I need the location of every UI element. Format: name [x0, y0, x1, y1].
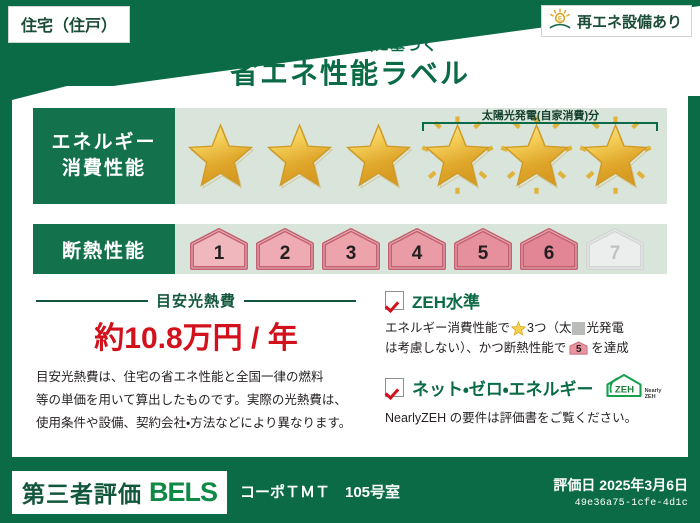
label-title: 建築物省エネ法に基づく 省エネ性能ラベル — [0, 38, 700, 91]
zeh-standard-title: ZEH水準 — [412, 288, 480, 313]
energy-row-label-line2: 消費性能 — [62, 156, 146, 182]
redacted-char — [572, 322, 585, 335]
energy-star-1 — [181, 113, 260, 199]
bels-wordmark: BELS — [149, 477, 217, 508]
net-zero-criterion: ネット・ゼロ・エネルギー ZEH Nearly ZEH — [385, 373, 667, 428]
zeh-desc-line2: は考慮しない）、かつ断熱性能で 5 を達成 — [385, 338, 667, 358]
zeh-desc-line2-b: を達成 — [591, 338, 629, 358]
dwelling-type-chip: 住宅（住戸） — [8, 6, 130, 43]
zeh-logo-subtext: Nearly ZEH — [645, 389, 662, 403]
evaluation-id: 49e36a75-1cfe-4d1c — [553, 498, 688, 509]
zeh-desc-line1-b: 光発電 — [586, 318, 624, 338]
solar-portion-bracket — [422, 122, 658, 131]
insulation-house-number: 1 — [188, 227, 250, 271]
insulation-house-2: 2 — [254, 227, 316, 271]
zeh-standard-header: ZEH水準 — [385, 288, 667, 313]
energy-performance-label: 住宅（住戸） E 再エネ設備あり 建築物省エネ法に基づく 省エネ性能ラベル — [0, 0, 700, 523]
criteria-block: ZEH水準 エネルギー消費性能で 3つ（太 光発電 は考慮しない）、かつ断熱性能… — [385, 288, 667, 428]
cost-heading-rule-left — [36, 300, 148, 302]
zeh-desc-star-count: 3つ（太 — [527, 318, 571, 338]
svg-text:E: E — [558, 16, 562, 22]
zeh-standard-description: エネルギー消費性能で 3つ（太 光発電 は考慮しない）、かつ断熱性能で — [385, 318, 667, 359]
zeh-desc-line1: エネルギー消費性能で 3つ（太 光発電 — [385, 318, 667, 338]
net-zero-checkbox[interactable] — [385, 378, 404, 397]
zeh-standard-criterion: ZEH水準 エネルギー消費性能で 3つ（太 光発電 は考慮しない）、かつ断熱性能… — [385, 288, 667, 359]
net-zero-note-text: NearlyZEH の要件は評価書をご覧ください。 — [385, 408, 667, 428]
energy-performance-row: エネルギー 消費性能 太陽光発電(自家消費)分 — [33, 108, 667, 204]
energy-row-body: 太陽光発電(自家消費)分 — [175, 108, 667, 204]
insulation-house-4: 4 — [386, 227, 448, 271]
insulation-house-number: 7 — [584, 227, 646, 271]
insulation-row-label-text: 断熱性能 — [62, 236, 146, 263]
zeh-house-icon: ZEH — [605, 373, 643, 403]
insulation-house-6: 6 — [518, 227, 580, 271]
insulation-house-7: 7 — [584, 227, 646, 271]
sun-renewable-icon: E — [548, 8, 572, 35]
insulation-house-number: 5 — [452, 227, 514, 271]
zeh-standard-checkbox[interactable] — [385, 291, 404, 310]
bels-badge: 第三者評価 BELS — [12, 471, 227, 514]
insulation-house-number: 6 — [518, 227, 580, 271]
cost-heading-rule-right — [244, 300, 356, 302]
net-zero-note: NearlyZEH の要件は評価書をご覧ください。 — [385, 408, 667, 428]
star-icon — [181, 113, 260, 199]
zeh-desc-line1-a: エネルギー消費性能で — [385, 318, 510, 338]
svg-text:ZEH: ZEH — [614, 384, 633, 395]
cost-note: 目安光熱費は、住宅の省エネ性能と全国一律の燃料 等の単価を用いて算出したものです… — [36, 366, 366, 435]
unit-name: コーポＴＭＴ 105号室 — [240, 481, 400, 502]
insulation-house-3: 3 — [320, 227, 382, 271]
insulation-performance-row: 断熱性能 1 2 3 4 5 6 — [33, 224, 667, 274]
inline-house-grade-number: 5 — [569, 340, 588, 356]
insulation-grade-scale: 1 2 3 4 5 6 7 — [175, 224, 667, 274]
cost-heading: 目安光熱費 — [36, 290, 356, 311]
energy-row-label: エネルギー 消費性能 — [33, 108, 175, 204]
evaluation-date: 評価日 2025年3月6日 — [553, 475, 688, 495]
energy-star-3 — [339, 113, 418, 199]
insulation-row-body: 1 2 3 4 5 6 7 — [175, 224, 667, 274]
solar-portion-caption: 太陽光発電(自家消費)分 — [418, 107, 663, 123]
cost-note-line2: 等の単価を用いて算出したものです。実際の光熱費は、 — [36, 389, 366, 412]
renewable-badge-label: 再エネ設備あり — [577, 11, 682, 32]
insulation-house-number: 4 — [386, 227, 448, 271]
insulation-house-1: 1 — [188, 227, 250, 271]
inline-house-grade-icon: 5 — [569, 340, 588, 356]
zeh-logo-sub-line2: ZEH — [645, 395, 662, 401]
insulation-house-5: 5 — [452, 227, 514, 271]
zeh-desc-line2-a: は考慮しない）、かつ断熱性能で — [385, 338, 566, 358]
footer-bar: 第三者評価 BELS コーポＴＭＴ 105号室 評価日 2025年3月6日 49… — [0, 463, 700, 523]
zeh-logo: ZEH Nearly ZEH — [605, 373, 662, 403]
star-icon — [260, 113, 339, 199]
insulation-house-number: 2 — [254, 227, 316, 271]
cost-note-line1: 目安光熱費は、住宅の省エネ性能と全国一律の燃料 — [36, 366, 366, 389]
net-zero-title: ネット・ゼロ・エネルギー — [412, 375, 594, 400]
dwelling-type-label: 住宅（住戸） — [21, 18, 117, 35]
cost-note-line3: 使用条件や設備、契約会社・方法などにより異なります。 — [36, 412, 366, 435]
title-main: 省エネ性能ラベル — [0, 56, 700, 91]
cost-heading-text: 目安光熱費 — [156, 290, 236, 311]
insulation-row-label: 断熱性能 — [33, 224, 175, 274]
net-zero-header: ネット・ゼロ・エネルギー ZEH Nearly ZEH — [385, 373, 667, 403]
insulation-house-number: 3 — [320, 227, 382, 271]
evaluation-info: 評価日 2025年3月6日 49e36a75-1cfe-4d1c — [553, 475, 688, 509]
inline-star-icon — [511, 321, 526, 336]
renewable-equipment-badge: E 再エネ設備あり — [541, 5, 692, 37]
cost-value: 約10.8万円 / 年 — [36, 313, 356, 357]
star-icon — [339, 113, 418, 199]
energy-star-2 — [260, 113, 339, 199]
energy-row-label-line1: エネルギー — [51, 130, 156, 156]
third-party-label: 第三者評価 — [22, 475, 142, 509]
